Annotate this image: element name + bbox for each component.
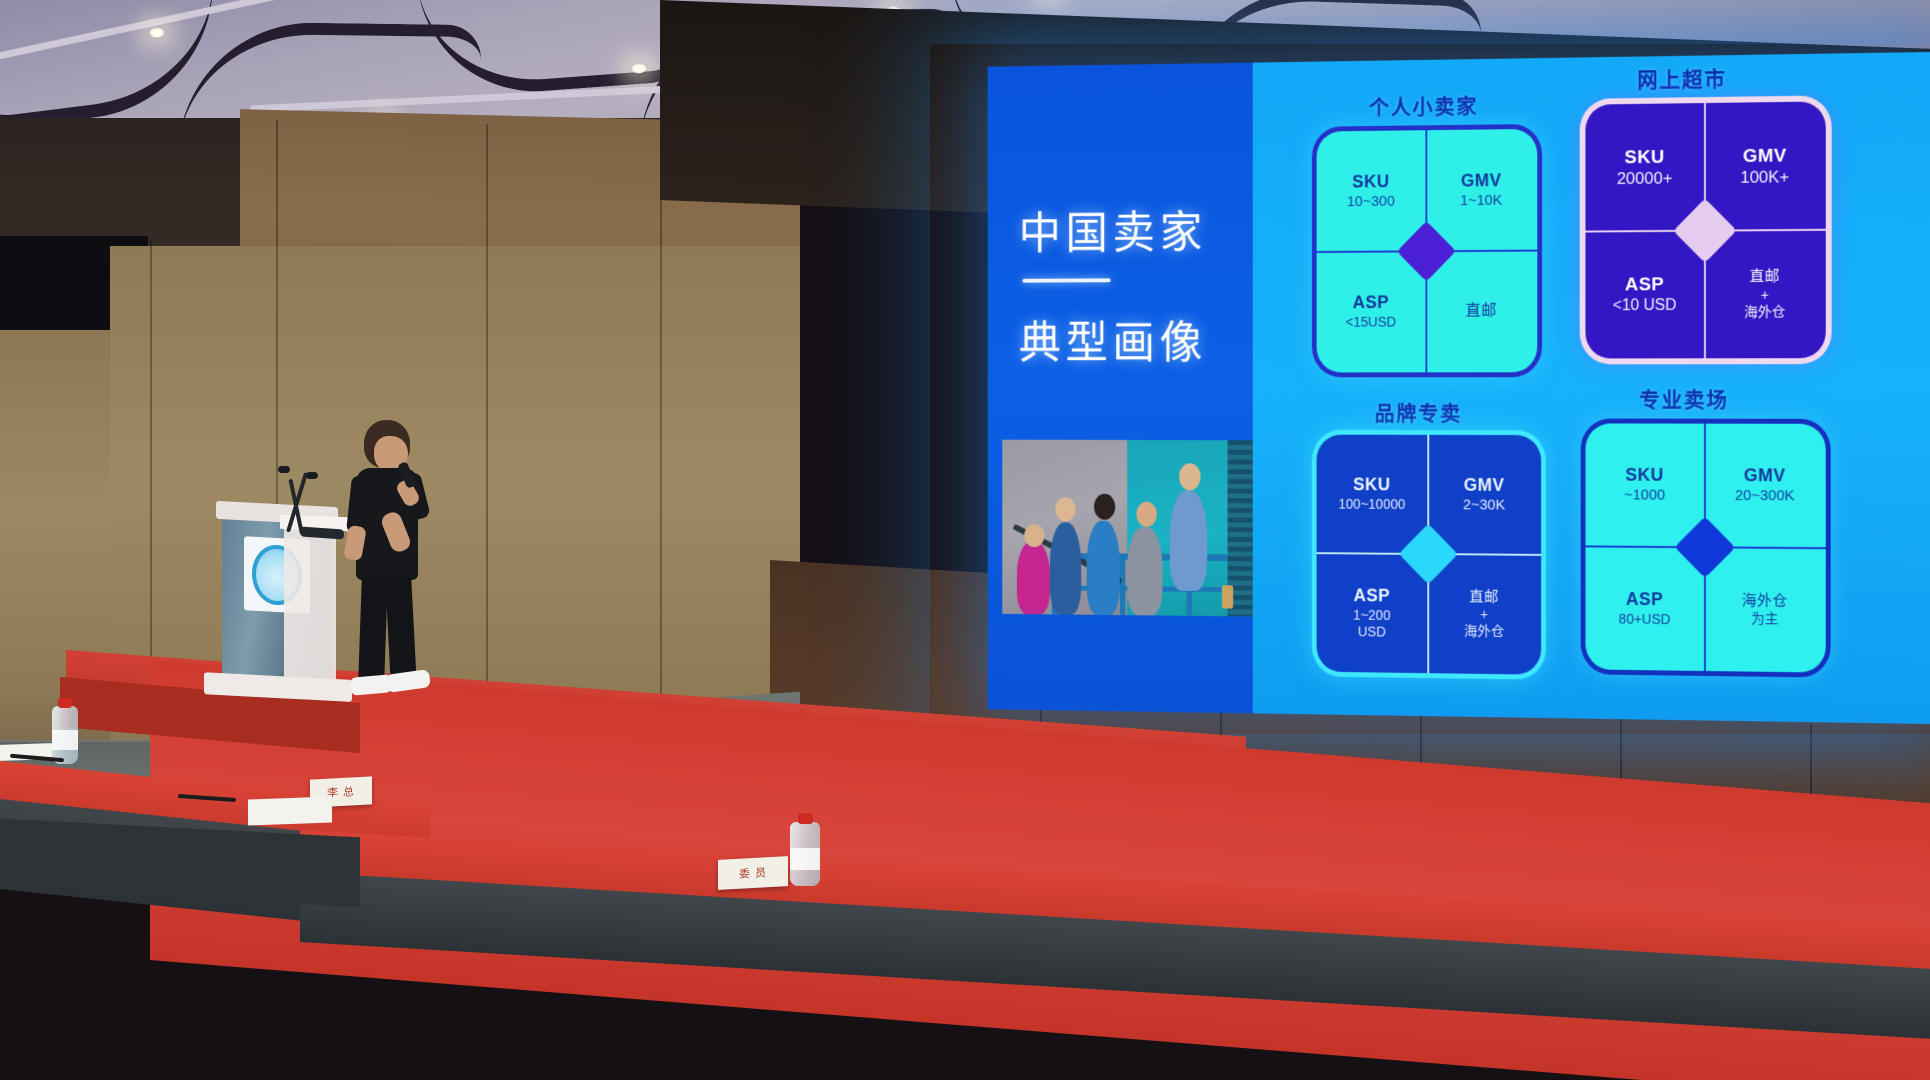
photo-person-head (1055, 497, 1075, 521)
cell-value: 1~10K (1460, 192, 1502, 210)
quadrant-cell: SKU 20000+ (1585, 103, 1704, 232)
slide-left-panel: 中国卖家 典型画像 (988, 63, 1253, 714)
cell-key: GMV (1461, 170, 1502, 192)
lectern-side-panel (284, 519, 336, 682)
quadrant-cell: SKU 100~10000 (1316, 435, 1428, 554)
cell-key: GMV (1464, 475, 1505, 497)
speaker-leg-right (385, 575, 417, 686)
bottle-label (52, 730, 78, 750)
cell-value: + 海外仓 (1464, 606, 1504, 640)
quadrant-cell: ASP <15USD (1316, 251, 1426, 372)
cell-value: <15USD (1346, 314, 1396, 331)
quadrant-cell: ASP <10 USD (1585, 231, 1704, 359)
photo-person-head (1136, 502, 1156, 527)
cell-value: ~1000 (1624, 487, 1665, 505)
cell-value: 20~300K (1735, 487, 1794, 505)
cell-key: ASP (1354, 585, 1390, 607)
cell-key: SKU (1624, 146, 1664, 169)
cell-key: 直邮 (1469, 588, 1499, 606)
quadrant-card-0: SKU 10~300 GMV 1~10K ASP <15USD 直邮 (1316, 129, 1537, 373)
cell-key: ASP (1353, 293, 1389, 315)
quadrant-cell: GMV 20~300K (1704, 424, 1825, 549)
cell-key: SKU (1352, 171, 1389, 193)
name-card-text: 委 员 (739, 864, 767, 881)
cell-value: 20000+ (1617, 168, 1673, 189)
cell-value: 2~30K (1463, 496, 1505, 514)
cell-value: 1~200 USD (1353, 607, 1390, 641)
bottle-cap (58, 698, 72, 708)
cell-value: 80+USD (1619, 611, 1671, 628)
speaker-leg-left (358, 576, 388, 685)
card-label-3: 专业卖场 (1639, 384, 1729, 414)
bottle-cap (798, 813, 813, 824)
quadrant-card-1: SKU 20000+ GMV 100K+ ASP <10 USD 直邮 + 海外… (1585, 101, 1825, 358)
slide-title-line2: 典型画像 (1019, 307, 1207, 371)
quadrant-card-2: SKU 100~10000 GMV 2~30K ASP 1~200 USD 直邮… (1316, 435, 1541, 675)
quadrant-cell: ASP 80+USD (1585, 546, 1704, 671)
quadrant-cell: 直邮 + 海外仓 (1428, 554, 1541, 675)
card-label-2: 品牌专卖 (1375, 398, 1462, 427)
cell-value: 为主 (1751, 610, 1779, 627)
slide-group-photo (1002, 440, 1265, 617)
photo-person (1127, 527, 1162, 616)
cell-value: + 海外仓 (1744, 286, 1785, 320)
cell-key: ASP (1625, 274, 1664, 297)
cell-value: 100~10000 (1339, 496, 1406, 513)
quadrant-cell: SKU 10~300 (1316, 130, 1426, 252)
cell-value: 10~300 (1347, 193, 1395, 211)
speaker-presenter (330, 420, 440, 710)
conference-photo-scene: 中国卖家 典型画像 (0, 0, 1930, 1080)
quadrant-cell: SKU ~1000 (1585, 423, 1704, 547)
card-label-1: 网上超市 (1637, 63, 1727, 94)
photo-person (1050, 522, 1081, 614)
cell-value: 100K+ (1740, 167, 1789, 188)
cell-key: 直邮 (1465, 302, 1497, 321)
photo-object (1222, 585, 1233, 608)
photo-person (1017, 541, 1050, 614)
cell-value: <10 USD (1613, 296, 1676, 316)
place-name-card: 委 员 (718, 856, 788, 890)
water-bottle (790, 822, 820, 886)
cell-key: ASP (1626, 589, 1663, 611)
photo-person (1087, 521, 1120, 616)
cell-key: SKU (1353, 475, 1390, 497)
quadrant-cell: 直邮 (1426, 251, 1537, 373)
photo-person-head (1024, 524, 1044, 547)
quadrant-cell: 直邮 + 海外仓 (1704, 230, 1825, 359)
photo-railing-post (1120, 554, 1126, 616)
led-presentation-screen: 中国卖家 典型画像 (988, 52, 1930, 724)
bottle-label (790, 848, 820, 870)
slide-title-line1: 中国卖家 (1019, 197, 1207, 262)
slide-right-panel: 个人小卖家 SKU 10~300 GMV 1~10K ASP <15USD (1252, 52, 1930, 724)
cell-key: GMV (1743, 144, 1787, 167)
quadrant-cell: 海外仓 为主 (1704, 547, 1825, 672)
cell-key: SKU (1625, 465, 1663, 487)
quadrant-cell: GMV 100K+ (1704, 101, 1825, 230)
cell-key: 海外仓 (1742, 592, 1788, 611)
quadrant-cell: GMV 2~30K (1428, 435, 1541, 555)
photo-person-head (1179, 463, 1200, 490)
microphone-capsule (306, 472, 318, 479)
quadrant-card-3: SKU ~1000 GMV 20~300K ASP 80+USD 海外仓 为主 (1585, 423, 1825, 672)
photo-person-head (1094, 494, 1115, 520)
cell-key: 直邮 (1749, 268, 1779, 286)
card-label-0: 个人小卖家 (1369, 90, 1478, 121)
slide-divider (1022, 278, 1110, 282)
paper-sheet (248, 797, 332, 826)
wall-panel-seam (660, 128, 662, 778)
quadrant-cell: ASP 1~200 USD (1316, 553, 1428, 673)
water-bottle (52, 706, 78, 764)
cell-key: GMV (1744, 466, 1786, 488)
quadrant-cell: GMV 1~10K (1426, 129, 1537, 251)
photo-person (1170, 490, 1207, 591)
microphone-capsule (278, 466, 290, 473)
